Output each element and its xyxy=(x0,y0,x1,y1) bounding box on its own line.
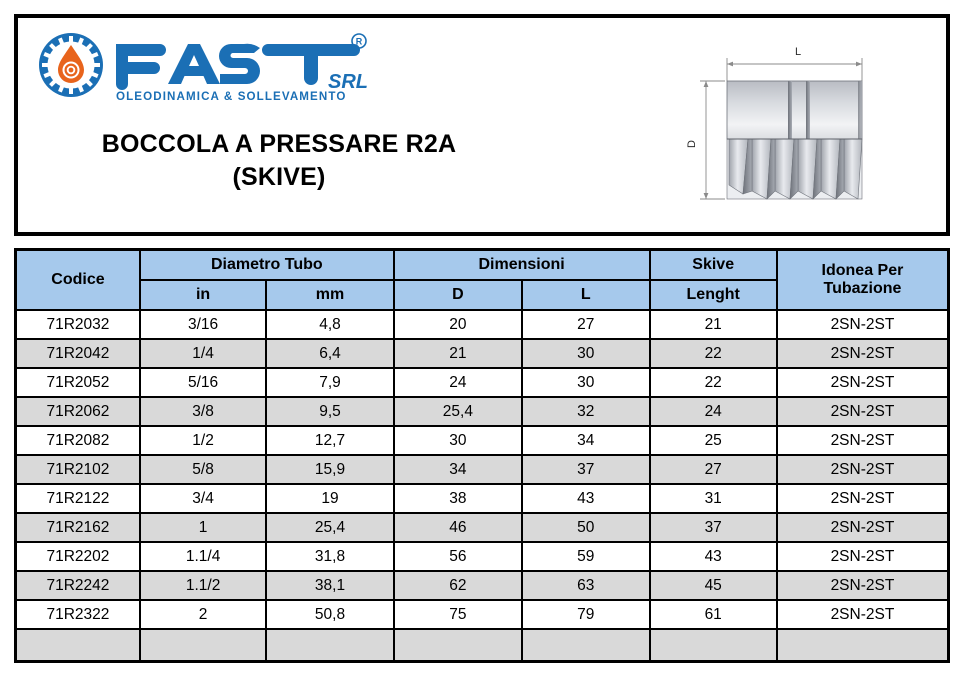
cell-mm: 25,4 xyxy=(266,513,393,542)
table-row-blank xyxy=(16,629,949,662)
cell-in: 1/2 xyxy=(140,426,266,455)
cell-codice xyxy=(16,629,140,662)
cell-skive: 45 xyxy=(650,571,777,600)
header-idonea-line-1: Idonea Per xyxy=(778,262,947,280)
cell-d: 30 xyxy=(394,426,522,455)
cell-l xyxy=(522,629,649,662)
svg-text:OLEODINAMICA & SOLLEVAMENTO: OLEODINAMICA & SOLLEVAMENTO xyxy=(116,90,346,103)
cell-codice: 71R2032 xyxy=(16,310,140,339)
cell-mm: 38,1 xyxy=(266,571,393,600)
table-body: 71R20323/164,82027212SN-2ST71R20421/46,4… xyxy=(16,310,949,662)
cell-tubazione: 2SN-2ST xyxy=(777,397,949,426)
cell-mm: 15,9 xyxy=(266,455,393,484)
table-row: 71R20421/46,42130222SN-2ST xyxy=(16,339,949,368)
cell-tubazione xyxy=(777,629,949,662)
cell-skive: 22 xyxy=(650,339,777,368)
cell-mm: 19 xyxy=(266,484,393,513)
cell-in: 1.1/4 xyxy=(140,542,266,571)
cell-l: 59 xyxy=(522,542,649,571)
cell-in: 2 xyxy=(140,600,266,629)
cell-mm: 9,5 xyxy=(266,397,393,426)
cell-in: 1.1/2 xyxy=(140,571,266,600)
cell-codice: 71R2162 xyxy=(16,513,140,542)
cell-skive: 25 xyxy=(650,426,777,455)
drawing-label-diameter: D xyxy=(686,140,698,148)
cell-d: 75 xyxy=(394,600,522,629)
cell-codice: 71R2122 xyxy=(16,484,140,513)
product-title: BOCCOLA A PRESSARE R2A (SKIVE) xyxy=(44,128,514,194)
header-skive: Skive xyxy=(650,250,777,281)
product-title-line-1: BOCCOLA A PRESSARE R2A xyxy=(44,128,514,161)
cell-in: 3/4 xyxy=(140,484,266,513)
product-title-line-2: (SKIVE) xyxy=(44,161,514,194)
cell-l: 30 xyxy=(522,339,649,368)
specification-table-wrapper: Codice Diametro Tubo Dimensioni Skive Id… xyxy=(14,248,950,663)
cell-in: 1/4 xyxy=(140,339,266,368)
table-row: 71R2162125,44650372SN-2ST xyxy=(16,513,949,542)
cell-in xyxy=(140,629,266,662)
cell-in: 5/16 xyxy=(140,368,266,397)
cell-in: 1 xyxy=(140,513,266,542)
cell-mm: 6,4 xyxy=(266,339,393,368)
header-sub-mm: mm xyxy=(266,280,393,310)
cell-skive: 37 xyxy=(650,513,777,542)
cell-codice: 71R2042 xyxy=(16,339,140,368)
cell-l: 43 xyxy=(522,484,649,513)
cell-mm xyxy=(266,629,393,662)
cell-mm: 31,8 xyxy=(266,542,393,571)
header-sub-in: in xyxy=(140,280,266,310)
cell-l: 50 xyxy=(522,513,649,542)
table-row: 71R22421.1/238,16263452SN-2ST xyxy=(16,571,949,600)
table-row: 71R20821/212,73034252SN-2ST xyxy=(16,426,949,455)
cell-tubazione: 2SN-2ST xyxy=(777,571,949,600)
cell-d: 34 xyxy=(394,455,522,484)
cell-codice: 71R2052 xyxy=(16,368,140,397)
cell-in: 3/16 xyxy=(140,310,266,339)
svg-text:R: R xyxy=(356,37,363,47)
cell-l: 79 xyxy=(522,600,649,629)
cell-d: 24 xyxy=(394,368,522,397)
cell-skive: 43 xyxy=(650,542,777,571)
header-codice: Codice xyxy=(16,250,140,311)
cell-codice: 71R2322 xyxy=(16,600,140,629)
table-row: 71R21025/815,93437272SN-2ST xyxy=(16,455,949,484)
cell-l: 27 xyxy=(522,310,649,339)
drawing-label-length: L xyxy=(795,46,801,58)
cell-d: 20 xyxy=(394,310,522,339)
table-row: 71R2322250,87579612SN-2ST xyxy=(16,600,949,629)
cell-l: 37 xyxy=(522,455,649,484)
cell-d xyxy=(394,629,522,662)
cell-d: 38 xyxy=(394,484,522,513)
table-header: Codice Diametro Tubo Dimensioni Skive Id… xyxy=(16,250,949,311)
cell-codice: 71R2242 xyxy=(16,571,140,600)
table-row: 71R22021.1/431,85659432SN-2ST xyxy=(16,542,949,571)
company-wordmark: R SRL OLEODINAMICA & SOLLEVAMENTO xyxy=(110,30,375,106)
specification-table: Codice Diametro Tubo Dimensioni Skive Id… xyxy=(14,248,950,663)
cell-skive: 21 xyxy=(650,310,777,339)
cell-codice: 71R2102 xyxy=(16,455,140,484)
table-row: 71R20323/164,82027212SN-2ST xyxy=(16,310,949,339)
cell-tubazione: 2SN-2ST xyxy=(777,542,949,571)
cell-tubazione: 2SN-2ST xyxy=(777,455,949,484)
cell-l: 63 xyxy=(522,571,649,600)
cell-d: 25,4 xyxy=(394,397,522,426)
cell-l: 30 xyxy=(522,368,649,397)
cell-tubazione: 2SN-2ST xyxy=(777,426,949,455)
cell-in: 3/8 xyxy=(140,397,266,426)
cell-mm: 50,8 xyxy=(266,600,393,629)
ferrule-cross-section-drawing: L D xyxy=(680,36,900,226)
cell-l: 32 xyxy=(522,397,649,426)
header-panel: R SRL OLEODINAMICA & SOLLEVAMENTO BOCCOL… xyxy=(14,14,950,236)
datasheet-page: R SRL OLEODINAMICA & SOLLEVAMENTO BOCCOL… xyxy=(0,0,972,678)
cell-codice: 71R2062 xyxy=(16,397,140,426)
header-dimensioni: Dimensioni xyxy=(394,250,650,281)
cell-skive xyxy=(650,629,777,662)
table-row: 71R20623/89,525,432242SN-2ST xyxy=(16,397,949,426)
company-logo: R SRL OLEODINAMICA & SOLLEVAMENTO xyxy=(38,30,378,108)
cell-d: 56 xyxy=(394,542,522,571)
cell-tubazione: 2SN-2ST xyxy=(777,310,949,339)
cell-skive: 27 xyxy=(650,455,777,484)
cell-tubazione: 2SN-2ST xyxy=(777,368,949,397)
cell-d: 46 xyxy=(394,513,522,542)
cell-tubazione: 2SN-2ST xyxy=(777,600,949,629)
cell-d: 21 xyxy=(394,339,522,368)
table-header-row-top: Codice Diametro Tubo Dimensioni Skive Id… xyxy=(16,250,949,281)
header-idonea-line-2: Tubazione xyxy=(778,280,947,298)
cell-skive: 61 xyxy=(650,600,777,629)
header-sub-d: D xyxy=(394,280,522,310)
table-row: 71R21223/4193843312SN-2ST xyxy=(16,484,949,513)
cell-tubazione: 2SN-2ST xyxy=(777,513,949,542)
cell-skive: 24 xyxy=(650,397,777,426)
cell-l: 34 xyxy=(522,426,649,455)
cell-tubazione: 2SN-2ST xyxy=(777,339,949,368)
table-row: 71R20525/167,92430222SN-2ST xyxy=(16,368,949,397)
gear-oil-drop-logo-icon xyxy=(38,32,104,98)
cell-in: 5/8 xyxy=(140,455,266,484)
header-sub-l: L xyxy=(522,280,649,310)
header-idonea-per-tubazione: Idonea Per Tubazione xyxy=(777,250,949,311)
cell-skive: 22 xyxy=(650,368,777,397)
header-diametro-tubo: Diametro Tubo xyxy=(140,250,394,281)
cell-mm: 4,8 xyxy=(266,310,393,339)
cell-mm: 7,9 xyxy=(266,368,393,397)
cell-d: 62 xyxy=(394,571,522,600)
cell-mm: 12,7 xyxy=(266,426,393,455)
cell-codice: 71R2202 xyxy=(16,542,140,571)
cell-codice: 71R2082 xyxy=(16,426,140,455)
header-sub-lenght: Lenght xyxy=(650,280,777,310)
cell-skive: 31 xyxy=(650,484,777,513)
cell-tubazione: 2SN-2ST xyxy=(777,484,949,513)
